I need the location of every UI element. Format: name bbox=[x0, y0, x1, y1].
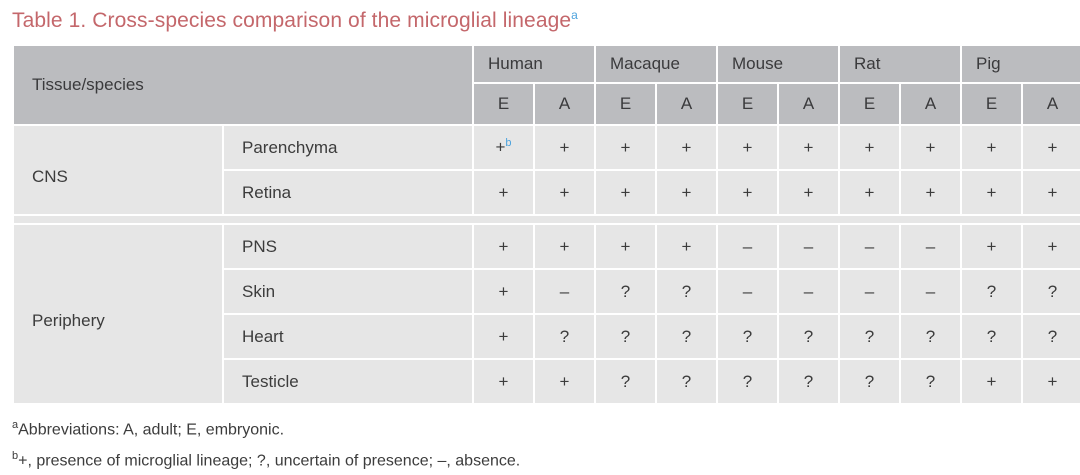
mark-skin-macaque-a: ? bbox=[657, 270, 716, 313]
group-separator bbox=[14, 216, 1080, 223]
group-label-periphery: Periphery bbox=[14, 225, 222, 403]
tissue-label-pns: PNS bbox=[224, 225, 472, 268]
tissue-label-retina: Retina bbox=[224, 171, 472, 214]
mark-skin-macaque-e: ? bbox=[596, 270, 655, 313]
mark-testicle-rat-a: ? bbox=[901, 360, 960, 403]
mark-heart-macaque-a: ? bbox=[657, 315, 716, 358]
header-stage-pig-a: A bbox=[1023, 84, 1080, 124]
mark-parenchyma-mouse-e: + bbox=[718, 126, 777, 169]
page-title: Table 1. Cross-species comparison of the… bbox=[12, 8, 578, 33]
mark-retina-mouse-a: + bbox=[779, 171, 838, 214]
mark-retina-pig-e: + bbox=[962, 171, 1021, 214]
mark-pns-human-e: + bbox=[474, 225, 533, 268]
table-body: CNS Parenchyma +b + + + + + + + + + Reti… bbox=[14, 126, 1080, 403]
mark-heart-mouse-a: ? bbox=[779, 315, 838, 358]
mark-retina-macaque-a: + bbox=[657, 171, 716, 214]
mark-testicle-mouse-e: ? bbox=[718, 360, 777, 403]
mark-heart-macaque-e: ? bbox=[596, 315, 655, 358]
footnotes: aAbbreviations: A, adult; E, embryonic. … bbox=[12, 412, 520, 475]
mark-value: + bbox=[495, 138, 505, 157]
mark-pns-mouse-a: – bbox=[779, 225, 838, 268]
mark-skin-human-e: + bbox=[474, 270, 533, 313]
mark-parenchyma-pig-e: + bbox=[962, 126, 1021, 169]
mark-retina-pig-a: + bbox=[1023, 171, 1080, 214]
mark-pns-mouse-e: – bbox=[718, 225, 777, 268]
mark-pns-rat-e: – bbox=[840, 225, 899, 268]
header-stage-mouse-e: E bbox=[718, 84, 777, 124]
mark-retina-rat-e: + bbox=[840, 171, 899, 214]
mark-testicle-rat-e: ? bbox=[840, 360, 899, 403]
header-stage-macaque-a: A bbox=[657, 84, 716, 124]
mark-retina-human-a: + bbox=[535, 171, 594, 214]
mark-parenchyma-macaque-a: + bbox=[657, 126, 716, 169]
mark-testicle-pig-a: + bbox=[1023, 360, 1080, 403]
mark-pns-rat-a: – bbox=[901, 225, 960, 268]
tissue-label-skin: Skin bbox=[224, 270, 472, 313]
mark-testicle-macaque-a: ? bbox=[657, 360, 716, 403]
table-header: Tissue/species Human Macaque Mouse Rat P… bbox=[14, 46, 1080, 124]
mark-parenchyma-mouse-a: + bbox=[779, 126, 838, 169]
mark-heart-pig-a: ? bbox=[1023, 315, 1080, 358]
mark-pns-pig-e: + bbox=[962, 225, 1021, 268]
mark-skin-rat-e: – bbox=[840, 270, 899, 313]
mark-skin-human-a: – bbox=[535, 270, 594, 313]
mark-heart-mouse-e: ? bbox=[718, 315, 777, 358]
footnote-b: b+, presence of microglial lineage; ?, u… bbox=[12, 443, 520, 474]
mark-parenchyma-rat-e: + bbox=[840, 126, 899, 169]
mark-skin-mouse-a: – bbox=[779, 270, 838, 313]
table-caption-text: Table 1. Cross-species comparison of the… bbox=[12, 9, 571, 32]
mark-heart-rat-a: ? bbox=[901, 315, 960, 358]
mark-parenchyma-rat-a: + bbox=[901, 126, 960, 169]
header-stage-pig-e: E bbox=[962, 84, 1021, 124]
group-label-cns: CNS bbox=[14, 126, 222, 214]
header-species-pig: Pig bbox=[962, 46, 1080, 82]
header-stage-human-e: E bbox=[474, 84, 533, 124]
header-species-mouse: Mouse bbox=[718, 46, 838, 82]
header-tissue-species: Tissue/species bbox=[14, 46, 472, 124]
mark-pns-pig-a: + bbox=[1023, 225, 1080, 268]
mark-testicle-pig-e: + bbox=[962, 360, 1021, 403]
mark-parenchyma-pig-a: + bbox=[1023, 126, 1080, 169]
header-stage-rat-e: E bbox=[840, 84, 899, 124]
tissue-label-testicle: Testicle bbox=[224, 360, 472, 403]
tissue-label-parenchyma: Parenchyma bbox=[224, 126, 472, 169]
header-row-species: Tissue/species Human Macaque Mouse Rat P… bbox=[14, 46, 1080, 82]
header-stage-rat-a: A bbox=[901, 84, 960, 124]
caption-footnote-marker: a bbox=[571, 8, 578, 22]
footnote-b-text: +, presence of microglial lineage; ?, un… bbox=[18, 453, 520, 470]
mark-heart-pig-e: ? bbox=[962, 315, 1021, 358]
tissue-label-heart: Heart bbox=[224, 315, 472, 358]
mark-pns-macaque-e: + bbox=[596, 225, 655, 268]
mark-heart-human-a: ? bbox=[535, 315, 594, 358]
mark-retina-human-e: + bbox=[474, 171, 533, 214]
header-species-rat: Rat bbox=[840, 46, 960, 82]
mark-testicle-macaque-e: ? bbox=[596, 360, 655, 403]
mark-pns-macaque-a: + bbox=[657, 225, 716, 268]
mark-heart-human-e: + bbox=[474, 315, 533, 358]
group-separator-cell bbox=[14, 216, 1080, 223]
mark-parenchyma-human-a: + bbox=[535, 126, 594, 169]
header-species-macaque: Macaque bbox=[596, 46, 716, 82]
header-stage-human-a: A bbox=[535, 84, 594, 124]
mark-testicle-human-a: + bbox=[535, 360, 594, 403]
table-row: CNS Parenchyma +b + + + + + + + + + bbox=[14, 126, 1080, 169]
cross-species-comparison-table: Tissue/species Human Macaque Mouse Rat P… bbox=[12, 44, 1080, 405]
header-stage-macaque-e: E bbox=[596, 84, 655, 124]
table-row: Periphery PNS + + + + – – – – + + bbox=[14, 225, 1080, 268]
mark-retina-macaque-e: + bbox=[596, 171, 655, 214]
mark-skin-rat-a: – bbox=[901, 270, 960, 313]
mark-testicle-mouse-a: ? bbox=[779, 360, 838, 403]
mark-pns-human-a: + bbox=[535, 225, 594, 268]
mark-skin-pig-e: ? bbox=[962, 270, 1021, 313]
mark-retina-mouse-e: + bbox=[718, 171, 777, 214]
mark-parenchyma-human-e: +b bbox=[474, 126, 533, 169]
mark-testicle-human-e: + bbox=[474, 360, 533, 403]
footnote-a-text: Abbreviations: A, adult; E, embryonic. bbox=[18, 421, 284, 438]
header-stage-mouse-a: A bbox=[779, 84, 838, 124]
mark-retina-rat-a: + bbox=[901, 171, 960, 214]
mark-footnote-marker: b bbox=[505, 137, 511, 149]
mark-skin-pig-a: ? bbox=[1023, 270, 1080, 313]
mark-heart-rat-e: ? bbox=[840, 315, 899, 358]
mark-skin-mouse-e: – bbox=[718, 270, 777, 313]
mark-parenchyma-macaque-e: + bbox=[596, 126, 655, 169]
header-species-human: Human bbox=[474, 46, 594, 82]
footnote-a: aAbbreviations: A, adult; E, embryonic. bbox=[12, 412, 520, 443]
